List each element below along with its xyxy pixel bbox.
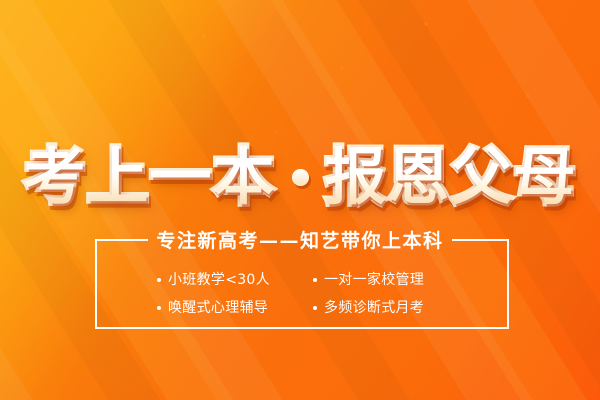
- feature-list: 小班教学<30人 一对一家校管理 唤醒式心理辅导 多频诊断式月考: [150, 268, 450, 320]
- promo-banner: 考上一本 报恩父母 考上一本 报恩父母 专注新高考——知艺带你上本科 小班教学<…: [0, 0, 600, 400]
- feature-label: 一对一家校管理: [324, 268, 424, 292]
- headline-left-text: 考上一本: [23, 146, 275, 208]
- bullet-dot-icon: [157, 278, 161, 282]
- feature-label: 小班教学<30人: [168, 268, 270, 292]
- bullet-dot-icon: [313, 278, 317, 282]
- bullet-dot-icon: [313, 306, 317, 310]
- headline-right-text: 报恩父母: [325, 146, 577, 208]
- feature-label: 唤醒式心理辅导: [168, 296, 268, 320]
- feature-frame-top-border-right: [452, 239, 509, 241]
- bullet-dot-icon: [157, 306, 161, 310]
- list-item: 一对一家校管理: [313, 268, 443, 292]
- list-item: 唤醒式心理辅导: [157, 296, 287, 320]
- feature-label: 多频诊断式月考: [324, 296, 424, 320]
- headline-separator-dot: [292, 169, 309, 186]
- feature-frame-top-border-left: [95, 239, 148, 241]
- headline: 考上一本 报恩父母 考上一本 报恩父母: [0, 138, 600, 216]
- list-item: 小班教学<30人: [157, 268, 287, 292]
- list-item: 多频诊断式月考: [313, 296, 443, 320]
- subtitle: 专注新高考——知艺带你上本科: [147, 229, 452, 253]
